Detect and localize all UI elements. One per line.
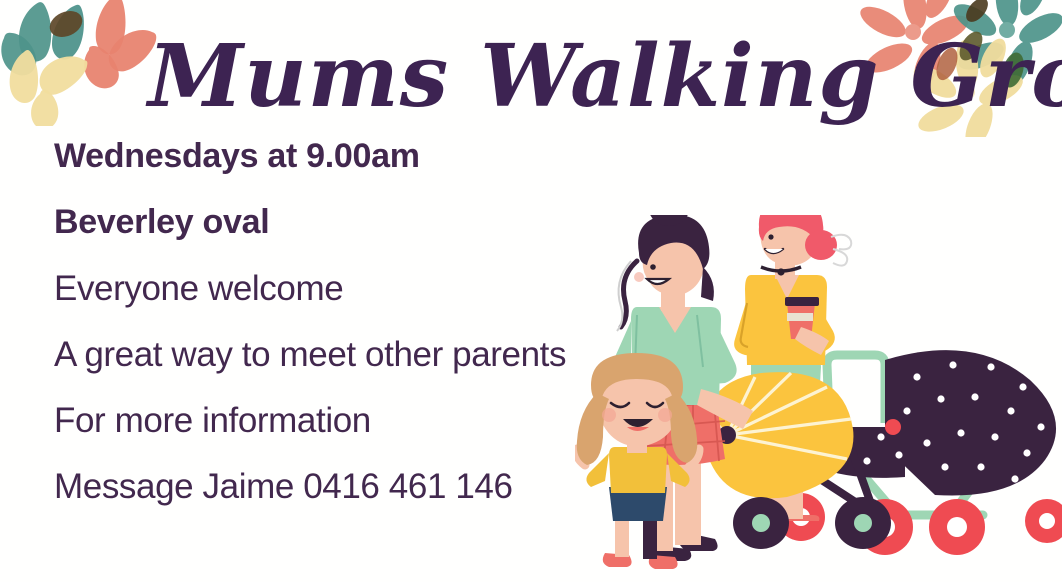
- page-title-text: Mums Walking Group: [145, 26, 1062, 127]
- pram-yellow-rays: [705, 373, 851, 459]
- petal-teal-icon: [1, 2, 84, 75]
- detail-line-more-info: For more information: [54, 403, 674, 438]
- leaf-dark-icon: [962, 0, 992, 26]
- detail-line-meet-parents: A great way to meet other parents: [54, 337, 674, 372]
- choker-bead: [777, 268, 784, 275]
- flower-center-brown: [46, 6, 87, 42]
- figure-mum-red-hair: [734, 215, 851, 521]
- pram-polkadot-wheels: [777, 493, 1062, 555]
- pram-polkadot-accent: [885, 419, 901, 435]
- petal-cream-icon: [10, 50, 88, 126]
- detail-line-contact: Message Jaime 0416 461 146: [54, 469, 674, 504]
- pram-polkadot: [777, 350, 1062, 555]
- detail-line-welcome: Everyone welcome: [54, 271, 674, 306]
- page-title: Mums Walking Group: [148, 24, 928, 134]
- detail-line-schedule: Wednesdays at 9.00am: [54, 139, 674, 173]
- pram-yellow: [703, 372, 891, 549]
- details-text-block: Wednesdays at 9.00am Beverley oval Every…: [54, 139, 674, 504]
- pram-yellow-wheels: [733, 497, 891, 549]
- petal-coral-icon: [84, 0, 156, 88]
- coffee-cup: [785, 297, 819, 339]
- poster-canvas: Mums Walking Group Wednesdays at 9.00am …: [0, 0, 1062, 582]
- pram-polkadot-dots: [799, 361, 1044, 482]
- detail-line-location: Beverley oval: [54, 205, 674, 239]
